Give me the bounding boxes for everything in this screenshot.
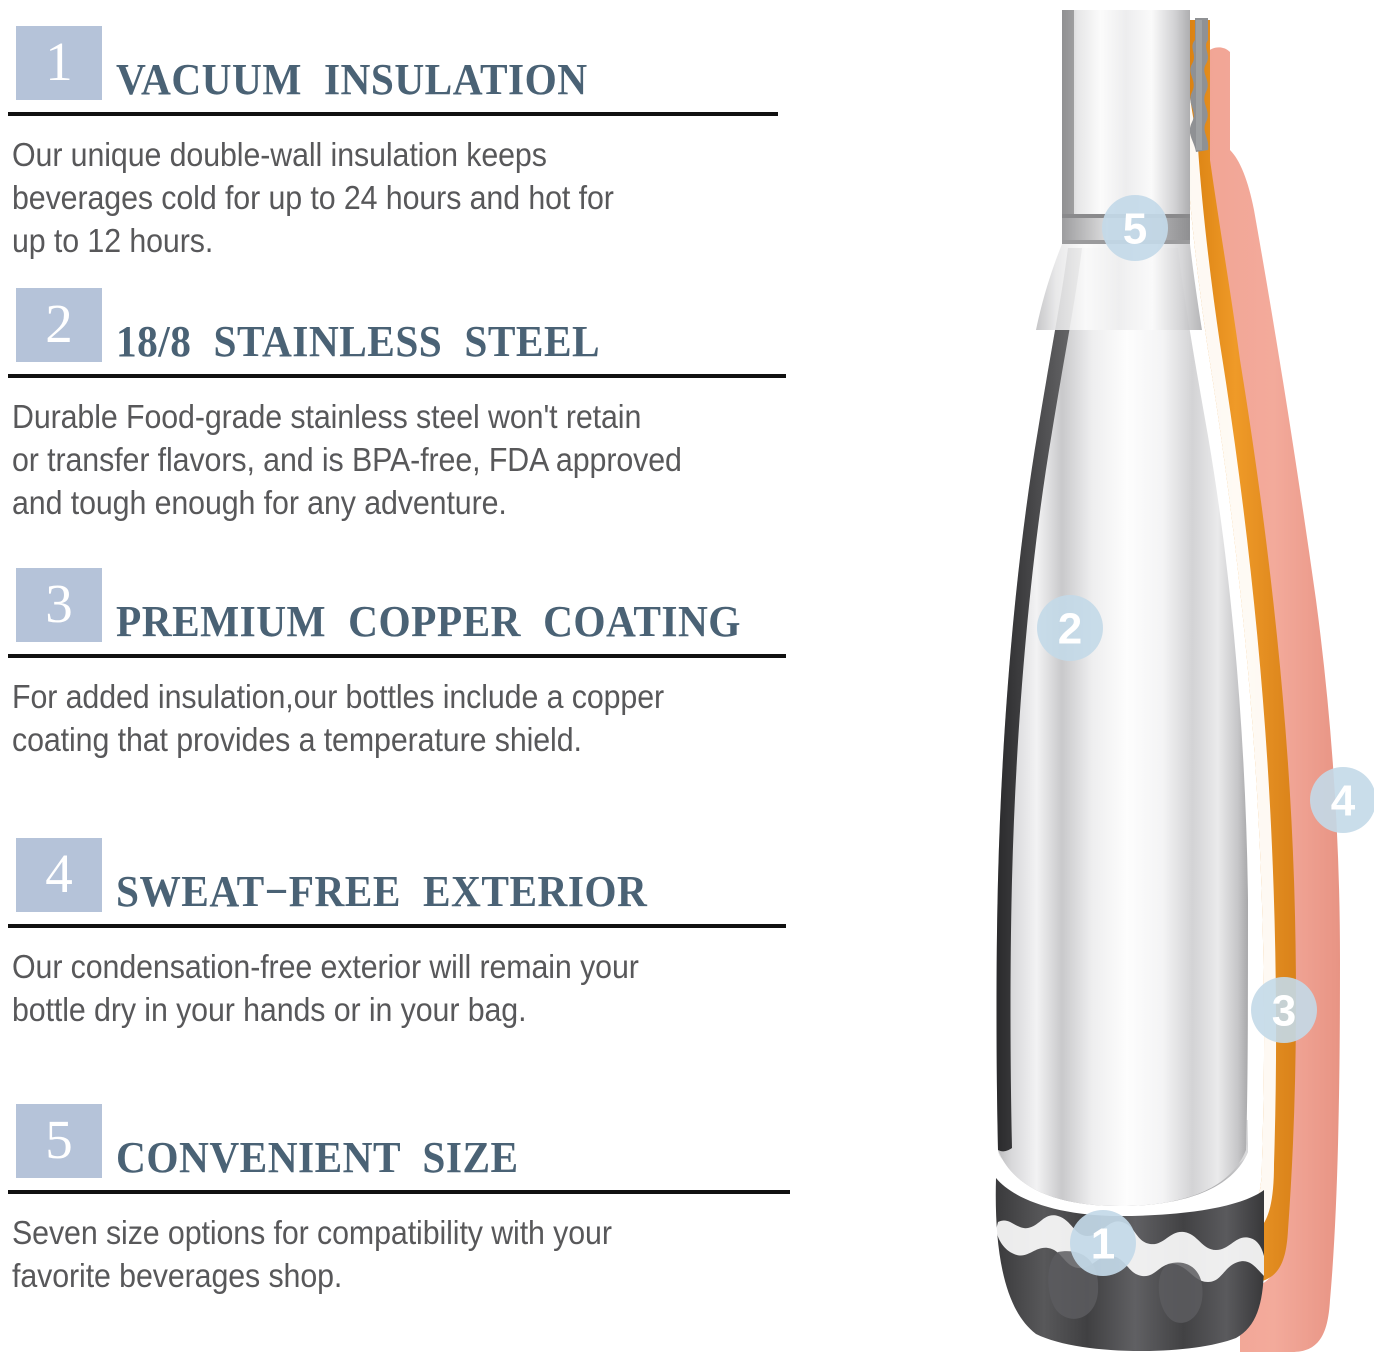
feature-badge-2: 2 bbox=[16, 288, 102, 362]
feature-title-4: SWEAT−FREE EXTERIOR bbox=[116, 870, 647, 914]
feature-number-2: 2 bbox=[45, 296, 73, 351]
feature-number-1: 1 bbox=[45, 34, 73, 89]
feature-rule-3 bbox=[8, 654, 786, 658]
feature-badge-5: 5 bbox=[16, 1104, 102, 1178]
callout-label-1: 1 bbox=[1091, 1220, 1115, 1269]
feature-description-4: Our condensation-free exterior will rema… bbox=[12, 946, 877, 1032]
feature-number-4: 4 bbox=[45, 846, 73, 901]
stainless-body-shape bbox=[997, 248, 1249, 1206]
callout-5: 5 bbox=[1102, 195, 1168, 261]
feature-description-5: Seven size options for compatibility wit… bbox=[12, 1212, 877, 1298]
feature-badge-4: 4 bbox=[16, 838, 102, 912]
callout-label-3: 3 bbox=[1272, 987, 1296, 1036]
callout-3: 3 bbox=[1251, 977, 1317, 1043]
bottle-cutaway-diagram: 5 2 4 3 1 bbox=[940, 0, 1374, 1370]
feature-item-3: 3 PREMIUM COPPER COATING For added insul… bbox=[0, 568, 860, 762]
feature-description-2: Durable Food-grade stainless steel won't… bbox=[12, 396, 877, 525]
neck-left-edge bbox=[1062, 10, 1074, 214]
feature-title-3: PREMIUM COPPER COATING bbox=[116, 600, 741, 644]
shoulder-shape bbox=[1036, 244, 1202, 330]
feature-rule-2 bbox=[8, 374, 786, 378]
feature-header-3: 3 PREMIUM COPPER COATING bbox=[0, 568, 860, 660]
feature-description-1: Our unique double-wall insulation keeps … bbox=[12, 134, 877, 263]
feature-badge-3: 3 bbox=[16, 568, 102, 642]
feature-number-3: 3 bbox=[45, 576, 73, 631]
feature-header-1: 1 VACUUM INSULATION bbox=[0, 26, 860, 118]
feature-rule-4 bbox=[8, 924, 786, 928]
callout-2: 2 bbox=[1037, 595, 1103, 661]
feature-header-4: 4 SWEAT−FREE EXTERIOR bbox=[0, 838, 860, 930]
feature-header-5: 5 CONVENIENT SIZE bbox=[0, 1104, 860, 1196]
feature-title-2: 18/8 STAINLESS STEEL bbox=[116, 320, 600, 364]
feature-list: 1 VACUUM INSULATION Our unique double-wa… bbox=[0, 0, 860, 1370]
feature-item-5: 5 CONVENIENT SIZE Seven size options for… bbox=[0, 1104, 860, 1298]
callout-4: 4 bbox=[1310, 767, 1374, 833]
callout-label-2: 2 bbox=[1058, 605, 1082, 654]
feature-rule-1 bbox=[8, 112, 778, 116]
callout-label-5: 5 bbox=[1123, 205, 1147, 254]
callout-1: 1 bbox=[1070, 1210, 1136, 1276]
callout-label-4: 4 bbox=[1331, 777, 1356, 826]
neck-shape bbox=[1062, 10, 1190, 214]
feature-description-3: For added insulation,our bottles include… bbox=[12, 676, 877, 762]
screw-thread-highlight bbox=[1196, 20, 1202, 150]
feature-badge-1: 1 bbox=[16, 26, 102, 100]
feature-title-5: CONVENIENT SIZE bbox=[116, 1136, 519, 1180]
feature-number-5: 5 bbox=[45, 1112, 73, 1167]
feature-item-2: 2 18/8 STAINLESS STEEL Durable Food-grad… bbox=[0, 288, 860, 525]
product-feature-infographic: 1 VACUUM INSULATION Our unique double-wa… bbox=[0, 0, 1374, 1370]
feature-item-4: 4 SWEAT−FREE EXTERIOR Our condensation-f… bbox=[0, 838, 860, 1032]
feature-rule-5 bbox=[8, 1190, 790, 1194]
feature-header-2: 2 18/8 STAINLESS STEEL bbox=[0, 288, 860, 380]
feature-item-1: 1 VACUUM INSULATION Our unique double-wa… bbox=[0, 26, 860, 263]
feature-title-1: VACUUM INSULATION bbox=[116, 58, 588, 102]
